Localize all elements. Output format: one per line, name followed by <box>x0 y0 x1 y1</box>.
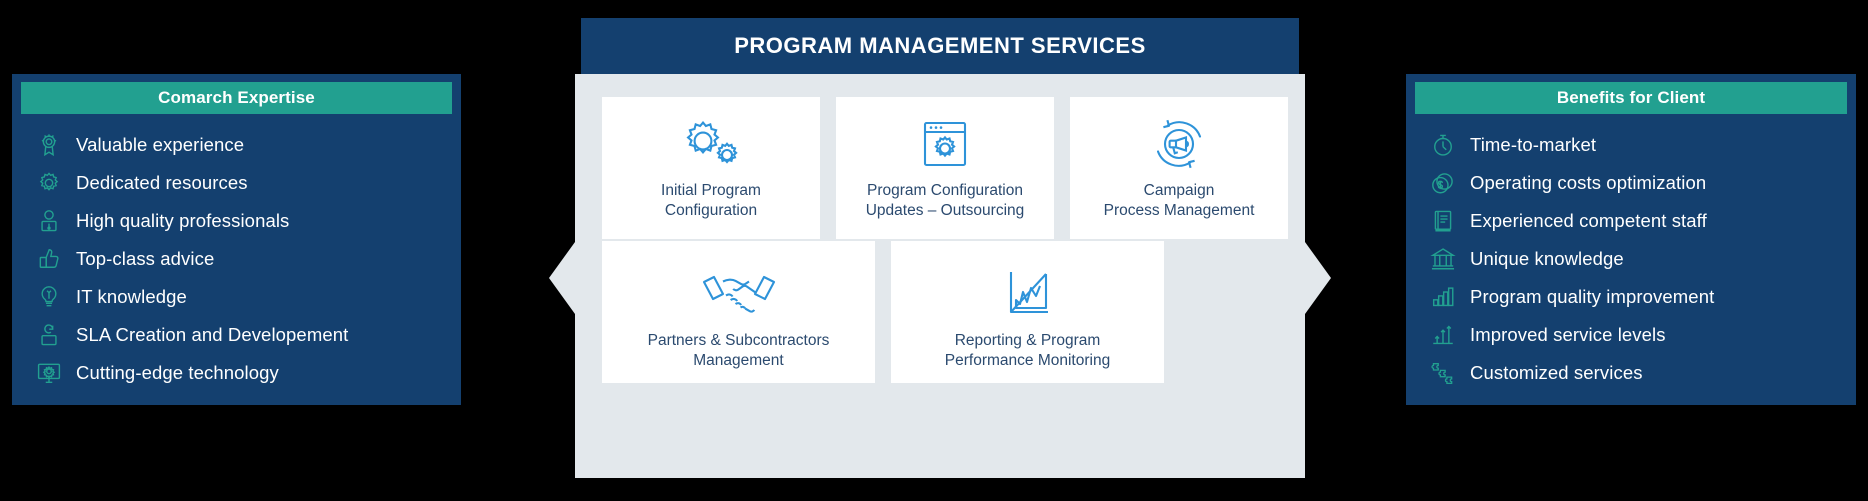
service-card[interactable]: Campaign Process Management <box>1070 97 1288 239</box>
line-chart-icon <box>1002 263 1054 325</box>
service-card-label: Partners & Subcontractors Management <box>648 331 830 371</box>
list-item[interactable]: Time-to-market <box>1428 126 1848 164</box>
left-panel-list: Valuable experience Dedicated resources <box>34 126 453 392</box>
list-item-label: Program quality improvement <box>1470 286 1714 308</box>
lightbulb-icon <box>34 282 64 312</box>
list-item-label: Unique knowledge <box>1470 248 1624 270</box>
center-body: Initial Program Configuration <box>575 74 1305 478</box>
comarch-expertise-panel: Comarch Expertise Valuable experience <box>12 74 461 405</box>
list-item[interactable]: Cutting-edge technology <box>34 354 453 392</box>
list-item[interactable]: Top-class advice <box>34 240 453 278</box>
service-card-row-bottom: Partners & Subcontractors Management Rep… <box>602 241 1164 383</box>
list-item[interactable]: Experienced competent staff <box>1428 202 1848 240</box>
puzzle-pieces-icon <box>1428 358 1458 388</box>
megaphone-cycle-icon <box>1150 113 1208 175</box>
left-panel-header-label: Comarch Expertise <box>158 88 315 108</box>
stopwatch-icon <box>1428 130 1458 160</box>
service-card[interactable]: Program Configuration Updates – Outsourc… <box>836 97 1054 239</box>
book-icon <box>1428 206 1458 236</box>
list-item[interactable]: Dedicated resources <box>34 164 453 202</box>
list-item-label: SLA Creation and Developement <box>76 324 348 346</box>
chevron-left-icon <box>549 242 575 314</box>
service-card[interactable]: Partners & Subcontractors Management <box>602 241 875 383</box>
gears-icon <box>676 113 746 175</box>
service-card[interactable]: Reporting & Program Performance Monitori… <box>891 241 1164 383</box>
thumbs-up-icon <box>34 244 64 274</box>
gear-icon <box>34 168 64 198</box>
infographic-root: Comarch Expertise Valuable experience <box>0 0 1868 501</box>
monitor-gear-icon <box>34 358 64 388</box>
list-item[interactable]: Customized services <box>1428 354 1848 392</box>
service-card-label: Reporting & Program Performance Monitori… <box>945 331 1110 371</box>
award-ribbon-icon <box>34 130 64 160</box>
person-badge-icon <box>34 206 64 236</box>
list-item-label: IT knowledge <box>76 286 187 308</box>
chevron-right-icon <box>1305 242 1331 314</box>
person-refresh-icon <box>34 320 64 350</box>
list-item[interactable]: IT knowledge <box>34 278 453 316</box>
bank-building-icon <box>1428 244 1458 274</box>
list-item-label: Top-class advice <box>76 248 214 270</box>
handshake-icon <box>698 263 780 325</box>
list-item[interactable]: Program quality improvement <box>1428 278 1848 316</box>
list-item[interactable]: SLA Creation and Developement <box>34 316 453 354</box>
arrows-up-chart-icon <box>1428 320 1458 350</box>
list-item-label: Cutting-edge technology <box>76 362 279 384</box>
service-card-label: Campaign Process Management <box>1104 181 1255 221</box>
right-panel-list: Time-to-market Operating costs optimizat… <box>1428 126 1848 392</box>
list-item-label: Improved service levels <box>1470 324 1666 346</box>
browser-gear-icon <box>918 113 972 175</box>
list-item[interactable]: Unique knowledge <box>1428 240 1848 278</box>
list-item[interactable]: Improved service levels <box>1428 316 1848 354</box>
center-title: PROGRAM MANAGEMENT SERVICES <box>734 33 1146 59</box>
left-panel-header: Comarch Expertise <box>21 82 452 114</box>
list-item-label: Customized services <box>1470 362 1643 384</box>
right-panel-header: Benefits for Client <box>1415 82 1847 114</box>
coins-dollar-icon <box>1428 168 1458 198</box>
list-item[interactable]: Valuable experience <box>34 126 453 164</box>
bar-chart-icon <box>1428 282 1458 312</box>
service-card-label: Program Configuration Updates – Outsourc… <box>866 181 1025 221</box>
list-item-label: Operating costs optimization <box>1470 172 1706 194</box>
center-header: PROGRAM MANAGEMENT SERVICES <box>581 18 1299 74</box>
list-item-label: Experienced competent staff <box>1470 210 1707 232</box>
list-item-label: Dedicated resources <box>76 172 248 194</box>
list-item[interactable]: Operating costs optimization <box>1428 164 1848 202</box>
service-card-row-top: Initial Program Configuration <box>602 97 1288 239</box>
program-management-services-block: PROGRAM MANAGEMENT SERVICES Initial Pro <box>575 18 1305 478</box>
right-panel-header-label: Benefits for Client <box>1557 88 1705 108</box>
benefits-for-client-panel: Benefits for Client Time-to-market <box>1406 74 1856 405</box>
service-card-label: Initial Program Configuration <box>661 181 761 221</box>
list-item-label: Valuable experience <box>76 134 244 156</box>
list-item-label: Time-to-market <box>1470 134 1596 156</box>
service-card[interactable]: Initial Program Configuration <box>602 97 820 239</box>
list-item-label: High quality professionals <box>76 210 289 232</box>
list-item[interactable]: High quality professionals <box>34 202 453 240</box>
